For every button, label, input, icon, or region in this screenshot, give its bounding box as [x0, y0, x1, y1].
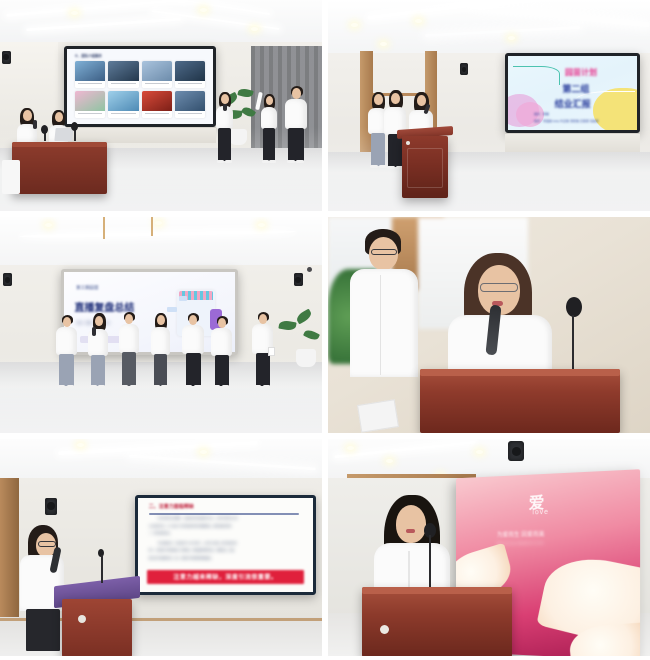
desk-microphone-head	[71, 122, 78, 131]
ceiling-speaker	[508, 441, 524, 461]
illustration-card	[179, 296, 188, 301]
ceiling-spotlight	[71, 11, 78, 15]
recessed-light	[347, 446, 354, 450]
eyeglasses	[38, 541, 56, 547]
thumbnail-card[interactable]	[75, 61, 105, 88]
slide-title-line3: 结业汇报	[555, 97, 591, 110]
slide-body-6: 建立用户的品牌信任，深入了解用户的消费需求和偏好。	[149, 556, 214, 560]
slide-credit-leader: 组长：陈敏	[534, 112, 549, 116]
ceiling-rod	[151, 217, 153, 236]
wall-speaker	[45, 498, 57, 515]
ceiling-rod	[103, 217, 105, 239]
thumbnail-card[interactable]	[175, 61, 205, 88]
slide-body-4: “悦·夜晚时间，打造年轻YOUNG生活”，以活力为主题，吸引更多的年	[157, 541, 237, 545]
handheld-microphone	[92, 327, 96, 336]
slide-credit-members: 组员：韦佳航 betty 叶正彬 曾旺怡 王思源 冯嘉豪	[534, 119, 599, 123]
wooden-podium	[362, 587, 512, 656]
wooden-podium	[420, 369, 620, 433]
door-frame	[0, 478, 19, 621]
plant-pot	[229, 129, 247, 145]
printed-notes	[268, 347, 275, 356]
ceiling-spotlight	[415, 19, 422, 23]
chair	[2, 160, 20, 194]
slide-eyebrow: 第三期园苗	[76, 285, 99, 291]
display-content: 二、注意力面临稀缺 当今的时代信息爆炸，尤其是在社交这类的平台上，用户的注意力正…	[138, 498, 312, 592]
desk-microphone-head	[41, 125, 48, 134]
thumbnail-card[interactable]	[108, 91, 138, 118]
printed-notes	[357, 399, 399, 433]
mouth	[406, 529, 415, 533]
slide-highlight-banner: 注意力越来稀缺，深度引流很重要。	[147, 570, 304, 584]
podium-top-edge	[420, 369, 620, 376]
slide-body-5: 轻人，通过线下场景和线上引流联动，增加品牌的曝光度，传播活动，深度	[149, 548, 235, 552]
wall-speaker	[460, 63, 468, 75]
eyeglasses	[371, 249, 397, 255]
wall-speaker	[294, 273, 303, 286]
podium	[62, 599, 132, 656]
podium-emblem	[406, 141, 410, 145]
collage-photo-6[interactable]: 爱 love 为爱而生 因爱而美 Born of Love, Blossom i…	[328, 439, 650, 656]
wall-display[interactable]: 二、注意力面临稀缺 当今的时代信息爆炸，尤其是在社交这类的平台上，用户的注意力正…	[135, 495, 315, 595]
gooseneck-microphone-stand	[572, 315, 574, 371]
podium-emblem	[78, 615, 86, 623]
thumbnail-card[interactable]	[108, 61, 138, 88]
slide-heading: 二、注意力面临稀缺	[149, 503, 194, 510]
slide-body-1: 当今的时代信息爆炸，尤其是在社交这类的平台上，用户的注意力正在	[157, 516, 237, 520]
display-content: 十、团队介绍展示	[67, 49, 212, 123]
gooseneck-microphone-stand	[101, 555, 103, 583]
gooseneck-microphone-head	[566, 297, 582, 317]
thumbnail-card[interactable]	[75, 91, 105, 118]
ceiling-spotlight	[351, 23, 358, 27]
display-base-cabinet	[505, 133, 640, 152]
podium-panel	[407, 148, 443, 188]
thumbnail-card[interactable]	[142, 61, 172, 88]
podium-emblem	[380, 625, 389, 634]
shirt-placket	[380, 275, 381, 375]
wall-speaker	[2, 51, 11, 64]
thumbnail-grid	[75, 61, 206, 119]
photo-collage: 十、团队介绍展示	[0, 0, 650, 660]
recessed-light	[386, 459, 393, 463]
thumbnail-card[interactable]	[175, 91, 205, 118]
ceiling-spotlight	[380, 42, 387, 46]
thumbnail-card[interactable]	[142, 91, 172, 118]
handheld-microphone	[33, 120, 37, 129]
eyeglasses	[480, 283, 518, 292]
decor-curve	[513, 66, 560, 85]
slide-body-3: 了一系列营销活动。	[149, 531, 172, 535]
collage-photo-1[interactable]: 十、团队介绍展示	[0, 0, 322, 211]
wood-trim	[347, 474, 476, 478]
display-content: 园苗计划 第二组 结业汇报 组长：陈敏 组员：韦佳航 betty 叶正彬 曾旺怡…	[508, 56, 637, 130]
illustration-card	[167, 307, 177, 312]
recessed-light	[476, 450, 483, 454]
wall-speaker	[3, 273, 12, 286]
collage-photo-3[interactable]: 第三期园苗 直播复盘总结 复盘 · 数据 · 策略 · 优化	[0, 217, 322, 433]
wall-display[interactable]: 园苗计划 第二组 结业汇报 组长：陈敏 组员：韦佳航 betty 叶正彬 曾旺怡…	[505, 53, 640, 133]
slide-body-2: 大力度碎片化，为了在这个竞争激烈的环境中脱颖而出，我们策划并进行	[149, 524, 232, 528]
collage-photo-4[interactable]	[328, 217, 650, 433]
collage-photo-2[interactable]: 园苗计划 第二组 结业汇报 组长：陈敏 组员：韦佳航 betty 叶正彬 曾旺怡…	[328, 0, 650, 211]
podium-top-edge	[362, 587, 512, 594]
presenter-desk	[12, 142, 107, 194]
poster-tagline: 为爱而生 因爱而美	[497, 528, 545, 538]
laptop	[54, 128, 73, 141]
slide-title-line1: 园苗计划	[565, 67, 597, 78]
plant-pot	[296, 349, 316, 367]
slide-heading: 十、团队介绍展示	[75, 53, 102, 58]
wall-display[interactable]: 十、团队介绍展示	[64, 46, 215, 126]
display-base-cabinet	[64, 127, 215, 144]
collage-photo-5[interactable]: 二、注意力面临稀缺 当今的时代信息爆炸，尤其是在社交这类的平台上，用户的注意力正…	[0, 439, 322, 656]
ceiling-spotlight	[200, 450, 207, 454]
poster-hero-sub: love	[533, 508, 549, 515]
desk-top	[12, 142, 107, 147]
slide-title-line2: 第二组	[562, 82, 589, 95]
